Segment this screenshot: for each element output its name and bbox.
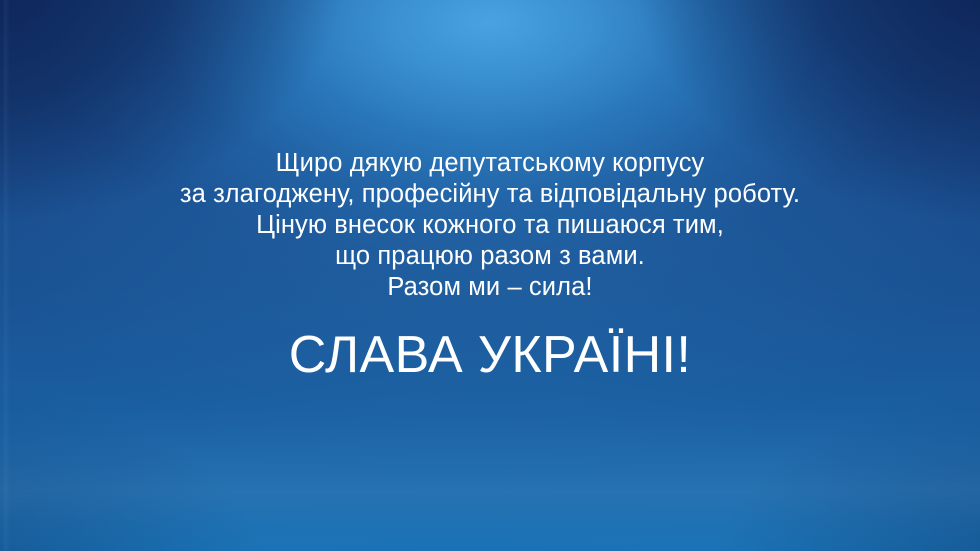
headline-slava-ukraini: СЛАВА УКРАЇНІ!	[0, 326, 980, 384]
body-line-3: Ціную внесок кожного та пишаюся тим,	[0, 210, 980, 241]
body-line-4: що працюю разом з вами.	[0, 241, 980, 272]
slide-content: Щиро дякую депутатському корпусу за злаг…	[0, 0, 980, 551]
presentation-slide: Щиро дякую депутатському корпусу за злаг…	[0, 0, 980, 551]
body-line-5: Разом ми – сила!	[0, 272, 980, 303]
body-text-block: Щиро дякую депутатському корпусу за злаг…	[0, 148, 980, 303]
body-line-2: за злагоджену, професійну та відповідаль…	[0, 179, 980, 210]
body-line-1: Щиро дякую депутатському корпусу	[0, 148, 980, 179]
